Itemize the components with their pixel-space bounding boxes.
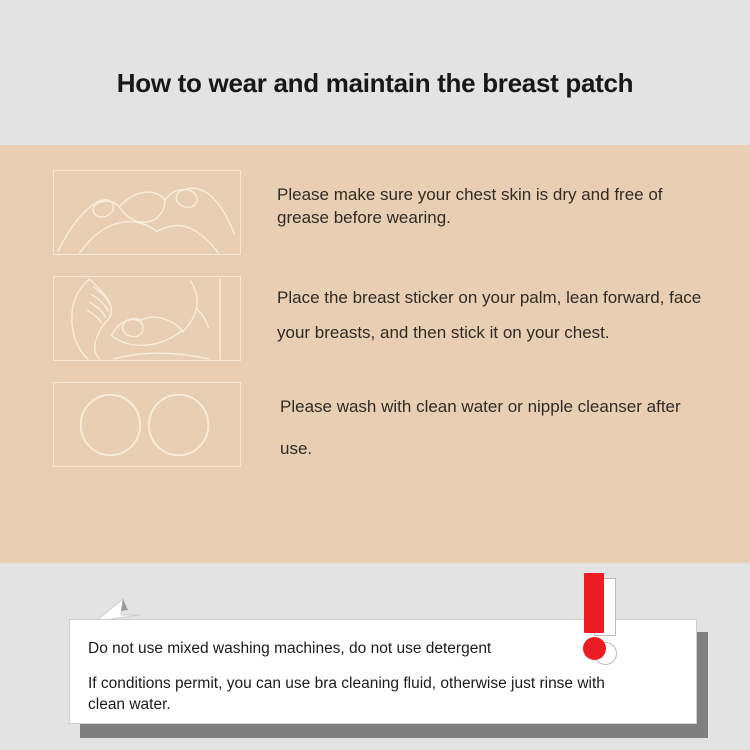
exclamation-bar bbox=[584, 573, 604, 633]
instruction-step-text: Please wash with clean water or nipple c… bbox=[277, 382, 715, 470]
header-band: How to wear and maintain the breast patc… bbox=[0, 0, 750, 145]
instruction-step: Please wash with clean water or nipple c… bbox=[0, 382, 750, 470]
instruction-step: Place the breast sticker on your palm, l… bbox=[0, 276, 750, 361]
two-hands-pinching-patch-illustration-icon bbox=[53, 170, 241, 255]
instruction-step-text: Please make sure your chest skin is dry … bbox=[277, 170, 715, 229]
instructions-band: Please make sure your chest skin is dry … bbox=[0, 145, 750, 563]
two-round-patches-illustration-icon bbox=[53, 382, 241, 467]
instruction-step: Please make sure your chest skin is dry … bbox=[0, 170, 750, 255]
warning-line: Do not use mixed washing machines, do no… bbox=[88, 638, 618, 659]
infographic-page: How to wear and maintain the breast patc… bbox=[0, 0, 750, 750]
instruction-step-text: Place the breast sticker on your palm, l… bbox=[277, 276, 715, 350]
hand-applying-patch-to-chest-illustration-icon bbox=[53, 276, 241, 361]
warning-line: If conditions permit, you can use bra cl… bbox=[88, 673, 618, 715]
page-title: How to wear and maintain the breast patc… bbox=[117, 46, 633, 99]
warning-callout-text: Do not use mixed washing machines, do no… bbox=[88, 638, 618, 715]
